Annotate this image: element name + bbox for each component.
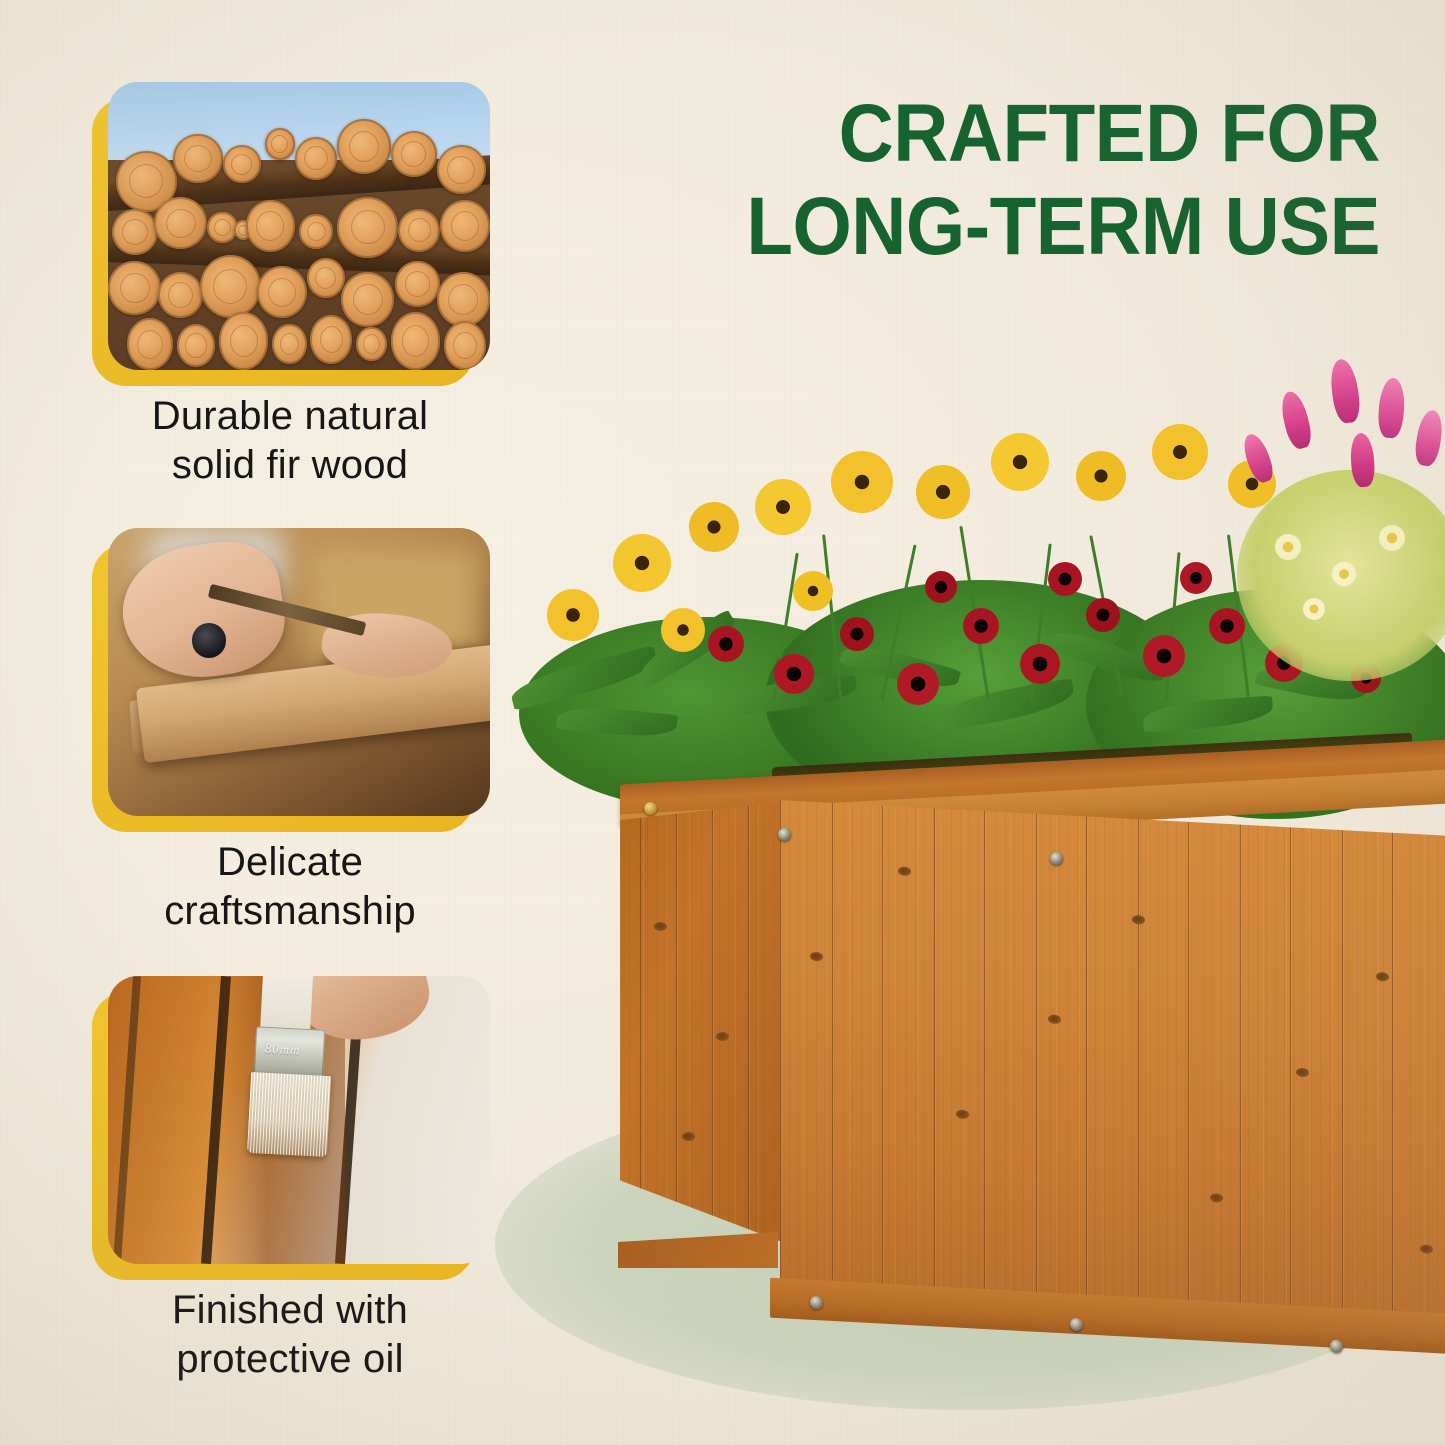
woodworking-hands-photo (108, 528, 490, 816)
thumbnail-wrapper (108, 528, 490, 816)
oil-brush-photo: 80mm (108, 976, 490, 1264)
caption-line-1: Delicate (90, 838, 490, 887)
headline-line-2: LONG-TERM USE (617, 181, 1380, 274)
feature-caption: Delicate craftsmanship (90, 838, 490, 936)
caption-line-1: Finished with (90, 1286, 490, 1335)
thumbnail-wrapper: 80mm (108, 976, 490, 1264)
planter-rim-screw (1050, 852, 1063, 865)
thumbnail-wrapper (108, 82, 490, 370)
brush-size-label: 80mm (264, 1040, 301, 1058)
headline-line-1: CRAFTED FOR (839, 88, 1380, 179)
planter-side-panel (620, 802, 782, 1242)
caption-line-2: solid fir wood (90, 441, 490, 490)
caption-line-1: Durable natural (90, 392, 490, 441)
planter-base-rail-side (618, 1232, 778, 1268)
planter-corner-screw-right (778, 828, 791, 841)
feature-card-durable-wood: Durable natural solid fir wood (90, 82, 490, 490)
planter-corner-screw-left (644, 802, 657, 815)
stacked-logs-photo (108, 82, 490, 370)
product-scene (470, 340, 1445, 1445)
infographic-canvas: CRAFTED FOR LONG-TERM USE (0, 0, 1445, 1445)
feature-card-craftsmanship: Delicate craftsmanship (90, 528, 490, 936)
page-title: CRAFTED FOR LONG-TERM USE (617, 88, 1380, 273)
feature-card-protective-oil: 80mm Finished with protective oil (90, 976, 490, 1384)
caption-line-2: craftsmanship (90, 887, 490, 936)
wooden-planter-box (620, 740, 1445, 1360)
feature-caption: Durable natural solid fir wood (90, 392, 490, 490)
caption-line-2: protective oil (90, 1335, 490, 1384)
feature-caption: Finished with protective oil (90, 1286, 490, 1384)
planter-front-panel (780, 800, 1445, 1326)
